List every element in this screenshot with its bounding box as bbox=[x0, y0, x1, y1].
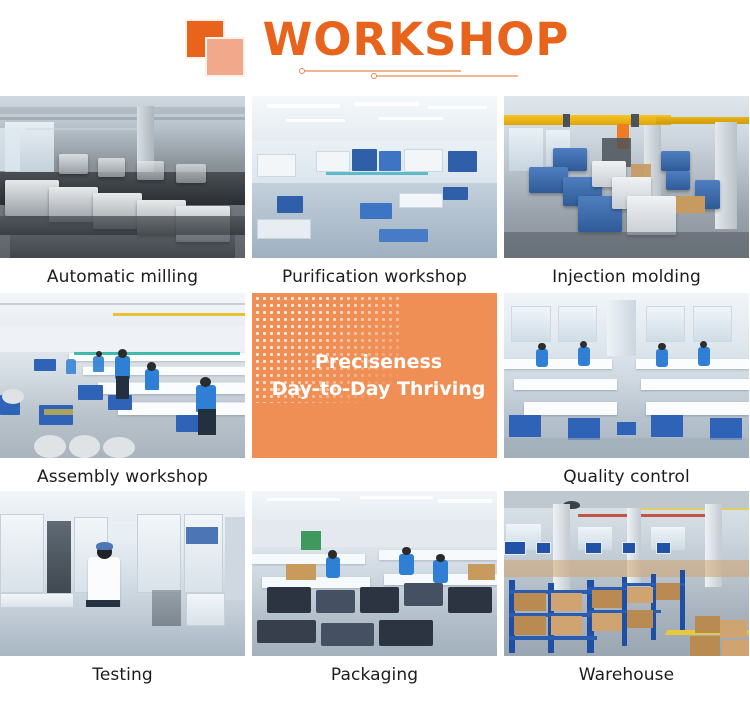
title-wrap: WORKSHOP bbox=[263, 17, 570, 80]
underline-dot-right-icon bbox=[371, 73, 377, 79]
promo-line-1: Preciseness bbox=[272, 349, 486, 375]
photo-warehouse bbox=[504, 491, 749, 656]
underline-dot-left-icon bbox=[299, 68, 305, 74]
title-underline-decoration bbox=[263, 66, 570, 80]
grid-cell-injection-molding[interactable]: Injection molding bbox=[504, 96, 749, 293]
caption-injection-molding: Injection molding bbox=[504, 258, 749, 287]
grid-cell-automatic-milling[interactable]: Automatic milling bbox=[0, 96, 245, 293]
photo-testing bbox=[0, 491, 245, 656]
photo-packaging bbox=[252, 491, 497, 656]
grid-cell-warehouse[interactable]: Warehouse bbox=[504, 490, 749, 705]
grid-cell-testing[interactable]: Testing bbox=[0, 490, 245, 705]
grid-cell-packaging[interactable]: Packaging bbox=[252, 490, 497, 705]
grid-cell-assembly-workshop[interactable]: Assembly workshop bbox=[0, 293, 245, 490]
header-inner: WORKSHOP bbox=[181, 13, 570, 83]
workshop-grid: Automatic milling bbox=[0, 96, 750, 705]
promo-panel: Preciseness Day-to-Day Thriving bbox=[252, 293, 497, 458]
caption-quality-control: Quality control bbox=[504, 458, 749, 487]
caption-packaging: Packaging bbox=[252, 656, 497, 685]
grid-cell-quality-control[interactable]: Quality control bbox=[504, 293, 749, 490]
photo-automatic-milling bbox=[0, 96, 245, 258]
photo-injection-molding bbox=[504, 96, 749, 258]
photo-purification-workshop bbox=[252, 96, 497, 258]
overlapping-squares-logo-icon bbox=[181, 17, 249, 79]
workshop-showcase-page: WORKSHOP bbox=[0, 0, 750, 705]
promo-line-2: Day-to-Day Thriving bbox=[272, 376, 486, 402]
caption-testing: Testing bbox=[0, 656, 245, 685]
caption-assembly-workshop: Assembly workshop bbox=[0, 458, 245, 487]
page-header: WORKSHOP bbox=[0, 0, 750, 96]
underline-lower bbox=[373, 75, 518, 77]
caption-automatic-milling: Automatic milling bbox=[0, 258, 245, 287]
photo-assembly-workshop bbox=[0, 293, 245, 458]
caption-purification-workshop: Purification workshop bbox=[252, 258, 497, 287]
photo-quality-control bbox=[504, 293, 749, 458]
grid-cell-purification-workshop[interactable]: Purification workshop bbox=[252, 96, 497, 293]
page-title: WORKSHOP bbox=[263, 17, 570, 62]
underline-upper bbox=[301, 70, 461, 72]
promo-text: Preciseness Day-to-Day Thriving bbox=[264, 349, 486, 401]
logo-square-front-icon bbox=[205, 37, 245, 77]
caption-warehouse: Warehouse bbox=[504, 656, 749, 685]
grid-cell-promo: Preciseness Day-to-Day Thriving bbox=[252, 293, 497, 490]
